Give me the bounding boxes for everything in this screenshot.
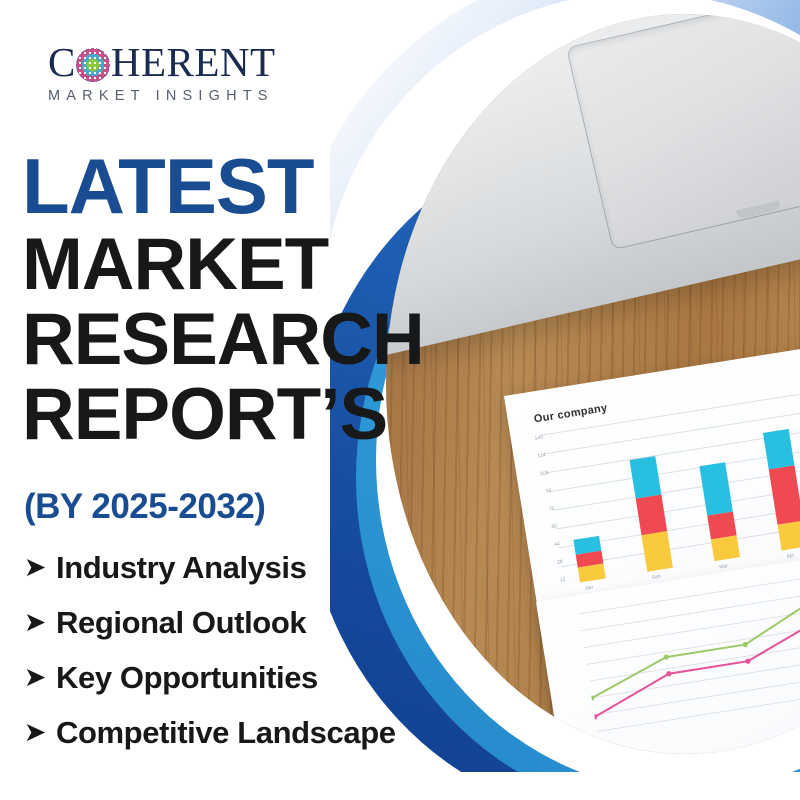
- headline-block: LATEST MARKET RESEARCH REPORT’S: [22, 150, 492, 449]
- headline-line-market: MARKET: [22, 231, 492, 300]
- headline-line-reports: REPORT’S: [22, 381, 492, 450]
- bullet-item-4[interactable]: ➤Competitive Landscape: [14, 717, 514, 748]
- bullet-label: Competitive Landscape: [56, 717, 396, 748]
- bullet-label: Regional Outlook: [56, 607, 306, 638]
- content-column: C HERENT MARKET INSIGHTS LATEST MARKET R…: [0, 0, 520, 800]
- arrowhead-bullet-icon: ➤: [14, 554, 56, 581]
- bullet-item-2[interactable]: ➤Regional Outlook: [14, 607, 514, 638]
- logo-wordmark-row: C HERENT: [48, 42, 276, 83]
- bullet-label: Key Opportunities: [56, 662, 318, 693]
- arrowhead-bullet-icon: ➤: [14, 609, 56, 636]
- headline-line-latest: LATEST: [22, 150, 492, 223]
- year-range-label: (BY 2025-2032): [24, 487, 265, 527]
- headline-line-research: RESEARCH: [22, 306, 492, 375]
- arrowhead-bullet-icon: ➤: [14, 664, 56, 691]
- feature-bullet-list: ➤Industry Analysis➤Regional Outlook➤Key …: [14, 552, 514, 772]
- logo-wordmark-rest: HERENT: [111, 42, 276, 83]
- bullet-label: Industry Analysis: [56, 552, 306, 583]
- logo-tagline: MARKET INSIGHTS: [48, 88, 276, 104]
- arrowhead-bullet-icon: ➤: [14, 719, 56, 746]
- logo-letter-c: C: [48, 42, 76, 83]
- globe-icon: [76, 48, 110, 82]
- poster-canvas: ⌘ command V B N ⌘ command optio: [0, 0, 800, 800]
- brand-logo[interactable]: C HERENT MARKET INSIGHTS: [48, 42, 276, 104]
- bullet-item-1[interactable]: ➤Industry Analysis: [14, 552, 514, 583]
- bullet-item-3[interactable]: ➤Key Opportunities: [14, 662, 514, 693]
